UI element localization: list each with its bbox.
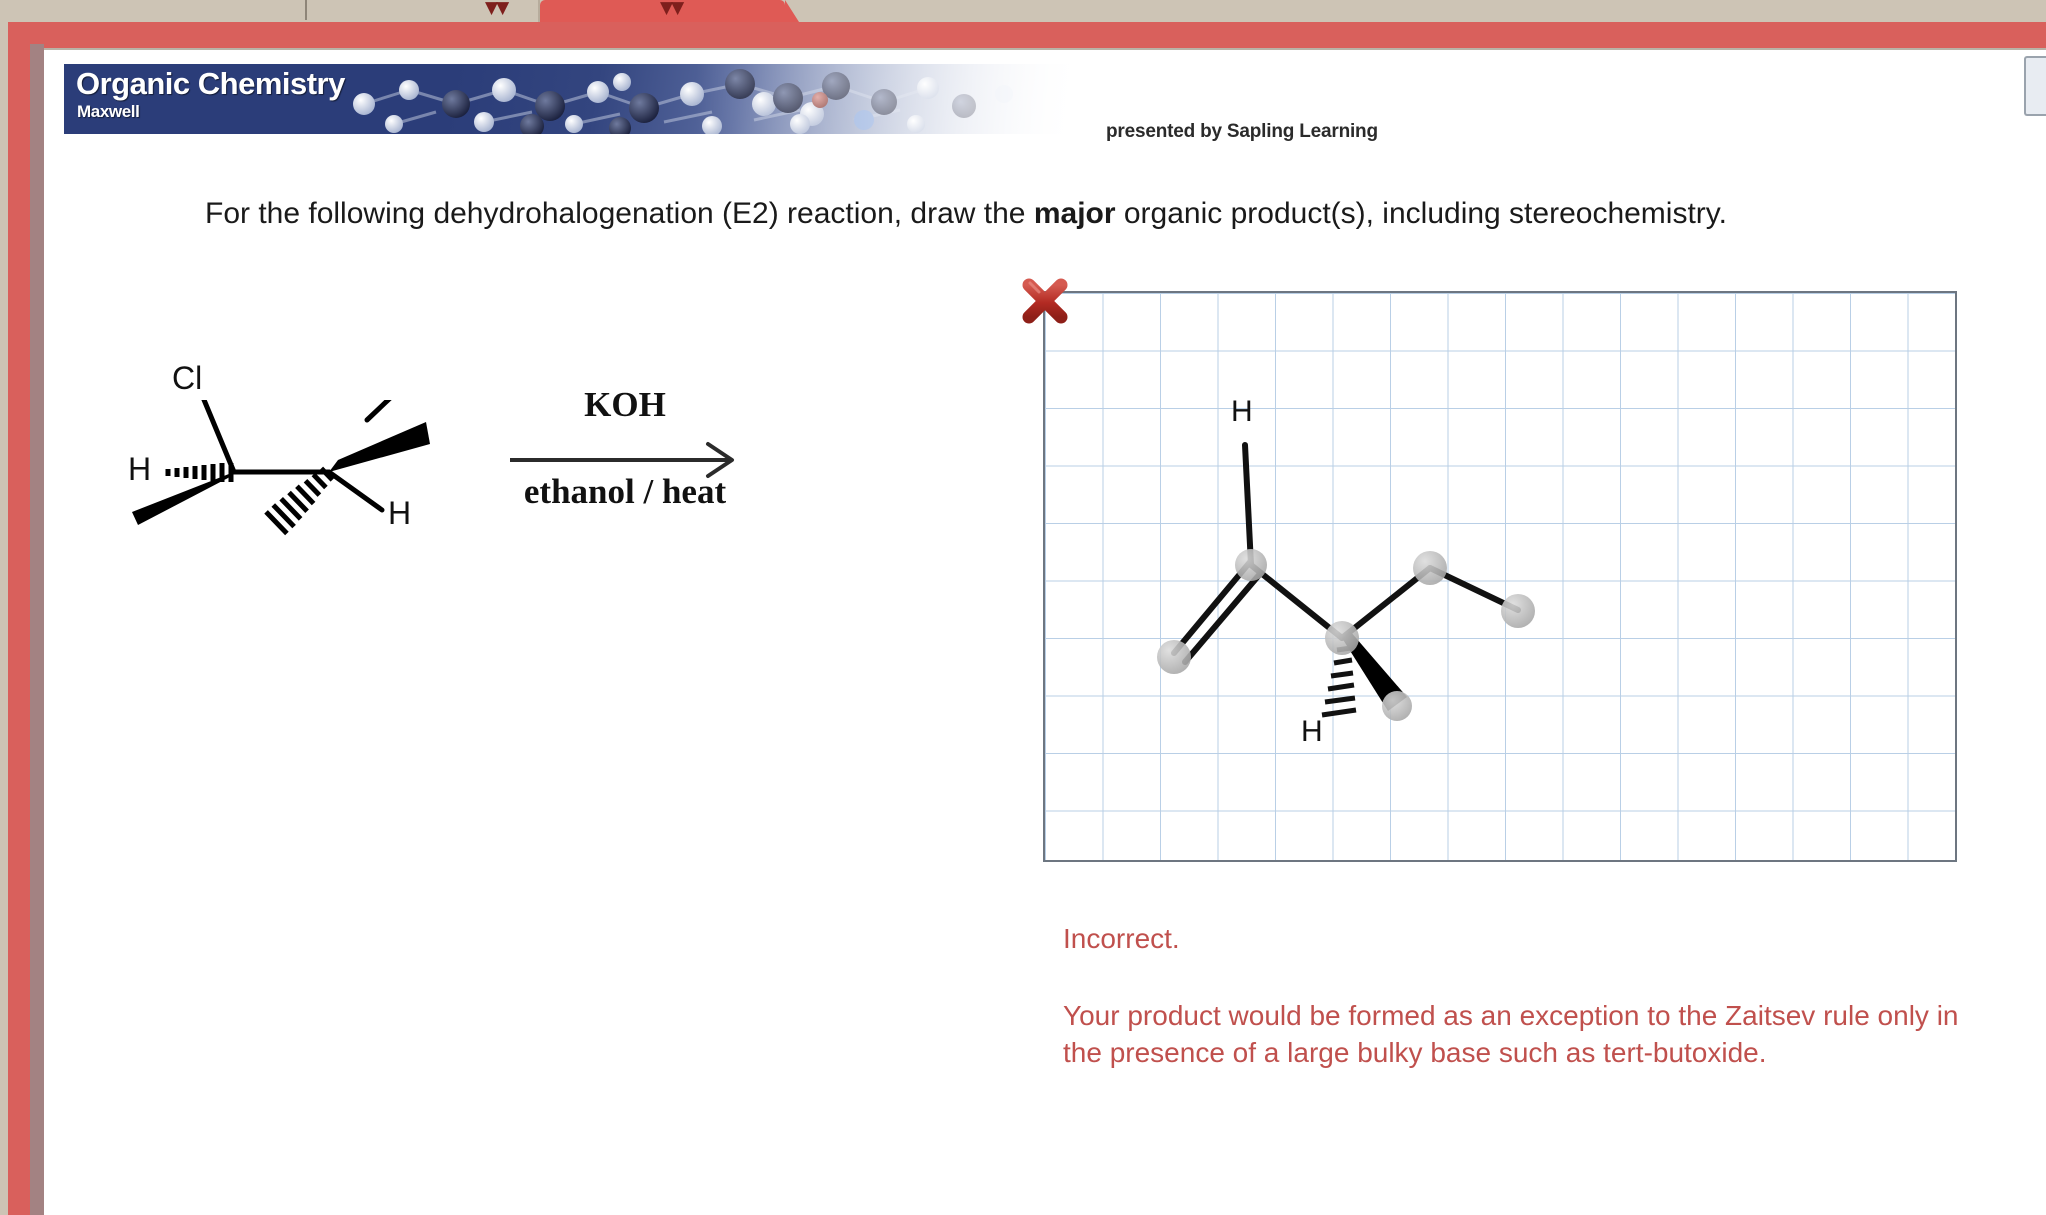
- incorrect-x-icon: [1019, 275, 1071, 327]
- right-side-panel-handle[interactable]: [2024, 56, 2046, 116]
- feedback-explanation: Your product would be formed as an excep…: [1063, 998, 1983, 1072]
- browser-chrome-strip: ▼▼ ▼▼: [0, 0, 2046, 22]
- label-chlorine: Cl: [172, 360, 202, 397]
- hash-bond-stereocenter-h: [1322, 648, 1356, 715]
- skeleton-bonds: [1245, 445, 1518, 638]
- drawn-structure[interactable]: [1045, 293, 1955, 860]
- reagent-above-arrow: KOH: [510, 385, 740, 425]
- atom-handles: [1157, 549, 1535, 721]
- wedge-bond-c2-methyl: [329, 422, 430, 472]
- chevron-down-icon-right[interactable]: ▼▼: [660, 0, 682, 18]
- question-prompt: For the following dehydrohalogenation (E…: [205, 195, 1945, 233]
- reaction-scheme: Cl H H KOH ethanol / heat: [130, 400, 960, 730]
- window-frame-left-rail: [30, 44, 44, 1215]
- prompt-emphasis: major: [1034, 197, 1116, 230]
- reagent-below-arrow: ethanol / heat: [500, 472, 750, 512]
- presented-by-label: presented by Sapling Learning: [1106, 121, 1378, 143]
- banner-subtitle: Maxwell: [77, 102, 139, 122]
- label-stereocenter-hydrogen: H: [1301, 715, 1323, 749]
- browser-tab-divider: [305, 0, 307, 20]
- prompt-text-part2: organic product(s), including stereochem…: [1116, 197, 1727, 230]
- browser-tab-inactive[interactable]: [0, 0, 540, 22]
- feedback-panel: Incorrect. Your product would be formed …: [1063, 921, 1983, 1072]
- banner-title: Organic Chemistry: [76, 66, 345, 102]
- label-hydrogen-left: H: [128, 451, 151, 488]
- course-banner: Organic Chemistry Maxwell: [64, 64, 1084, 134]
- prompt-text-part1: For the following dehydrohalogenation (E…: [205, 197, 1034, 230]
- substrate-bonds: [202, 400, 445, 510]
- chevron-down-icon-left[interactable]: ▼▼: [485, 0, 507, 18]
- label-hydrogen-right: H: [388, 495, 411, 532]
- feedback-status: Incorrect.: [1063, 921, 1983, 958]
- label-vinyl-hydrogen: H: [1231, 395, 1253, 429]
- answer-drawing-canvas[interactable]: H H: [1043, 291, 1957, 862]
